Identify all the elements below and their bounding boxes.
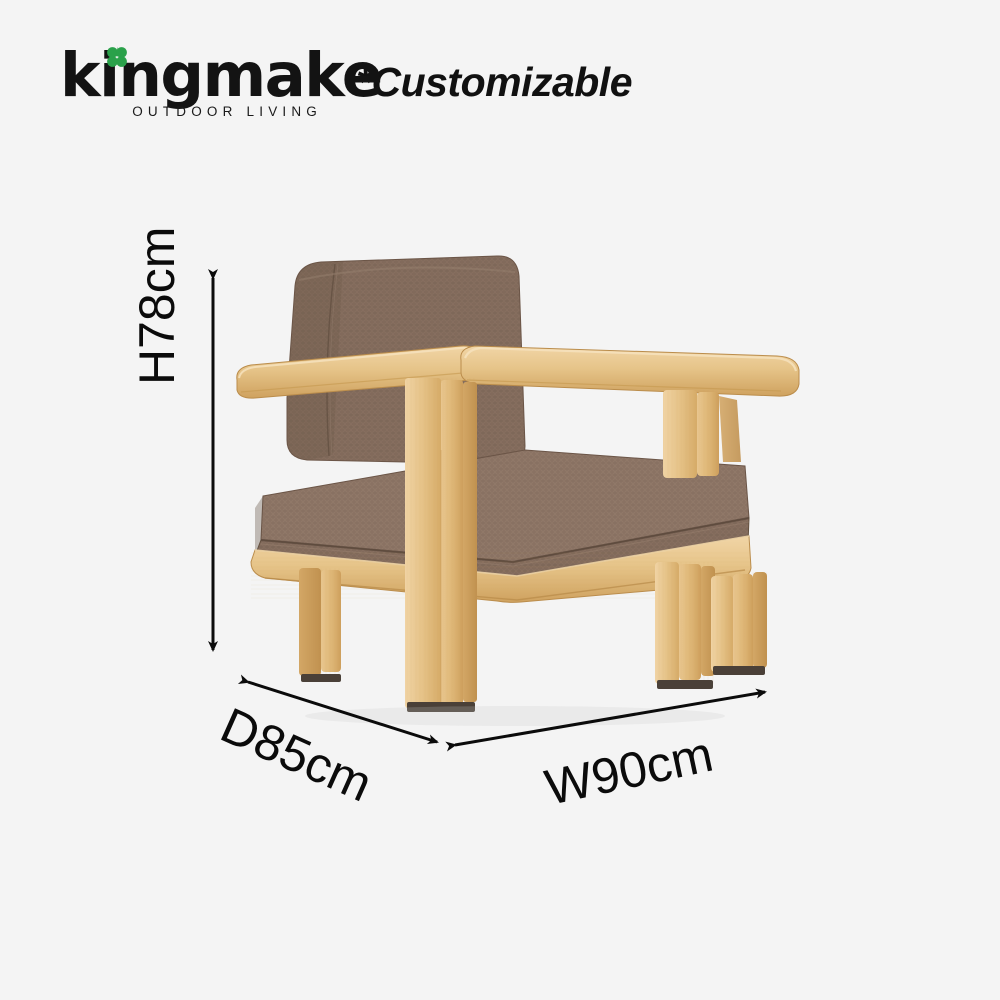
brand-header: kingmake OUTDOOR LIVING *Customizable xyxy=(60,48,632,106)
post-right xyxy=(663,390,719,478)
product-image-canvas: kingmake OUTDOOR LIVING *Customizable xyxy=(0,0,1000,1000)
brand-wordmark: kingmake xyxy=(60,48,322,104)
post-front-left xyxy=(405,378,477,712)
product-render-armchair xyxy=(225,250,805,730)
leg-rear-right xyxy=(655,562,715,689)
brand-logo: kingmake OUTDOOR LIVING xyxy=(60,48,322,104)
brand-tagline: OUTDOOR LIVING xyxy=(132,104,322,119)
arm-panel-right xyxy=(719,396,741,462)
customizable-note: *Customizable xyxy=(356,59,632,106)
clover-icon xyxy=(104,44,130,70)
height-dimension-label: H78cm xyxy=(128,227,186,385)
leg-rear-left xyxy=(299,568,341,682)
leg-front-right xyxy=(711,572,767,675)
width-dimension-label: W90cm xyxy=(540,725,718,817)
